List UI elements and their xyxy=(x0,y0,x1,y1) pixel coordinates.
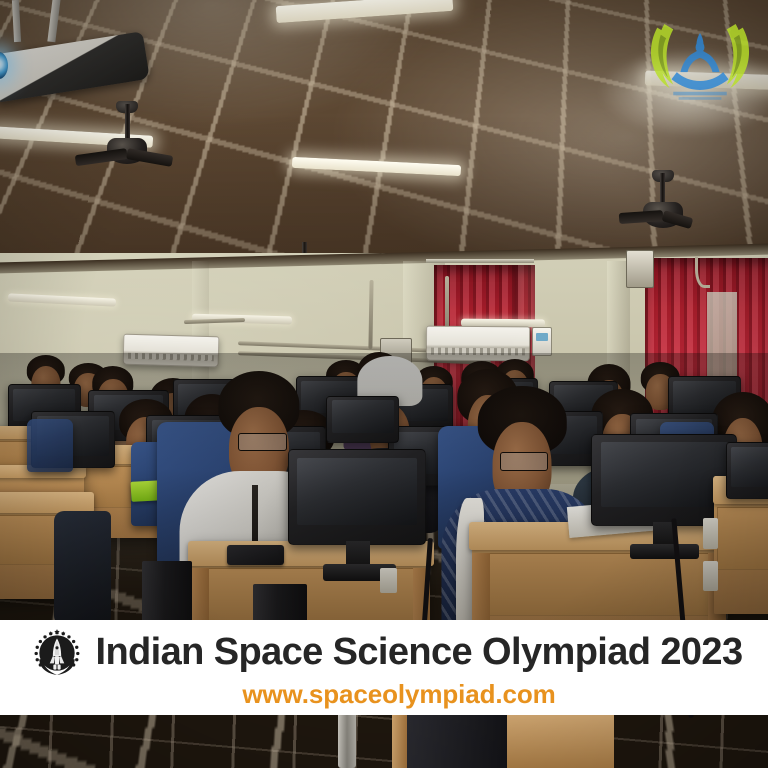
wall-hook xyxy=(695,257,710,288)
cpu-tower-foreground xyxy=(399,710,507,768)
ac-vent xyxy=(431,347,525,355)
banner-title: Indian Space Science Olympiad 2023 xyxy=(95,633,742,672)
backpack xyxy=(54,511,112,626)
desk-front-panel xyxy=(717,507,768,571)
ceiling-fan-2 xyxy=(634,173,692,225)
monitor-right-edge xyxy=(726,442,768,500)
ceiling-fan-1 xyxy=(92,104,162,166)
cable-tie xyxy=(703,561,718,592)
cable-tie xyxy=(380,568,397,593)
desk-panel-foreground xyxy=(392,707,407,768)
wall-conduit-pipe xyxy=(368,280,373,349)
eyeglasses xyxy=(500,452,548,470)
ac-vent xyxy=(127,352,214,361)
desk-shelf-foreground xyxy=(507,707,615,768)
banner-title-row: Indian Space Science Olympiad 2023 xyxy=(0,627,768,679)
fan-down-rod xyxy=(125,104,130,142)
metal-pole xyxy=(338,707,356,768)
isso-rocket-crest-icon xyxy=(31,627,83,679)
projector-mount-arm-1 xyxy=(47,0,61,43)
split-ac-1 xyxy=(122,334,219,367)
ac-control-panel xyxy=(532,327,552,356)
projector-body xyxy=(0,31,151,103)
banner-url[interactable]: www.spaceolympiad.com xyxy=(212,681,555,708)
curtain-rod xyxy=(426,259,534,263)
electrical-junction-box xyxy=(626,250,654,288)
fan-down-rod xyxy=(660,173,665,205)
ceiling-projector xyxy=(0,4,161,96)
olympiad-poster: Indian Space Science Olympiad 2023 www.s… xyxy=(0,0,768,768)
monitor-base xyxy=(630,544,699,559)
ceiling-light-glow xyxy=(599,46,768,138)
projector-mount-arm-2 xyxy=(11,0,20,43)
desk-top xyxy=(0,492,94,514)
bottom-banner: Indian Space Science Olympiad 2023 www.s… xyxy=(0,620,768,715)
cable-tie xyxy=(703,518,718,549)
split-ac-2 xyxy=(426,325,530,361)
chair-blue xyxy=(27,419,73,473)
